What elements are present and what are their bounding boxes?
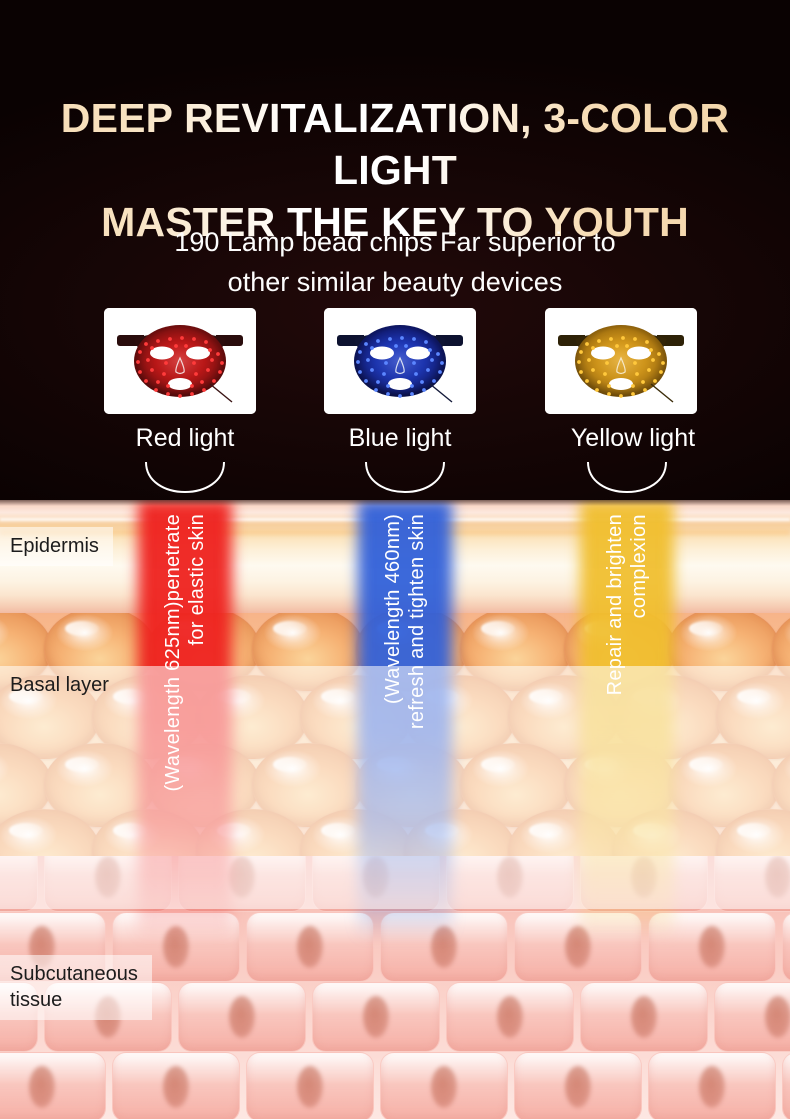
subcutaneous-cell: [648, 912, 776, 982]
subcutaneous-cell: [648, 1052, 776, 1119]
label-subcutaneous-tissue: Subcutaneous tissue: [0, 955, 152, 1020]
subcutaneous-cell: [380, 1052, 508, 1119]
light-label-red: Red light: [75, 424, 295, 453]
epidermis-highlight-line: [0, 518, 790, 521]
subcutaneous-cell: [782, 1052, 790, 1119]
subcutaneous-cell: [0, 1052, 106, 1119]
product-card-row: [0, 308, 790, 414]
subcutaneous-cell: [714, 982, 790, 1052]
product-card-red[interactable]: [104, 308, 256, 414]
section-divider-shadow: [0, 500, 790, 506]
arc-connector-red: [140, 462, 230, 500]
subcutaneous-cell: [380, 912, 508, 982]
subcutaneous-cell: [446, 982, 574, 1052]
epidermis-band: [0, 500, 790, 613]
subcutaneous-cell: [246, 1052, 374, 1119]
light-label-yellow: Yellow light: [523, 424, 743, 453]
hero-section: DEEP REVITALIZATION, 3-COLOR LIGHT MASTE…: [0, 0, 790, 500]
subcutaneous-cell: [514, 1052, 642, 1119]
infographic-page: DEEP REVITALIZATION, 3-COLOR LIGHT MASTE…: [0, 0, 790, 1119]
arc-connector-yellow: [582, 462, 672, 500]
page-subtitle: 190 Lamp bead chips Far superior to othe…: [0, 222, 790, 302]
yellow-light-mask-image: [545, 308, 697, 414]
label-basal-layer: Basal layer: [0, 666, 790, 909]
red-light-mask-image: [104, 308, 256, 414]
subcutaneous-cell: [246, 912, 374, 982]
label-epidermis: Epidermis: [0, 527, 113, 566]
subcutaneous-cell: [312, 982, 440, 1052]
blue-light-mask-image: [324, 308, 476, 414]
subcutaneous-cell: [112, 1052, 240, 1119]
subcutaneous-cell: [580, 982, 708, 1052]
subcutaneous-cell-row: [0, 1052, 790, 1119]
light-label-blue: Blue light: [290, 424, 510, 453]
subcutaneous-cell: [514, 912, 642, 982]
epidermis-accent-line: [0, 530, 790, 535]
subcutaneous-cell: [782, 912, 790, 982]
arc-connector-blue: [360, 462, 450, 500]
product-card-blue[interactable]: [324, 308, 476, 414]
product-card-yellow[interactable]: [545, 308, 697, 414]
subcutaneous-cell: [178, 982, 306, 1052]
